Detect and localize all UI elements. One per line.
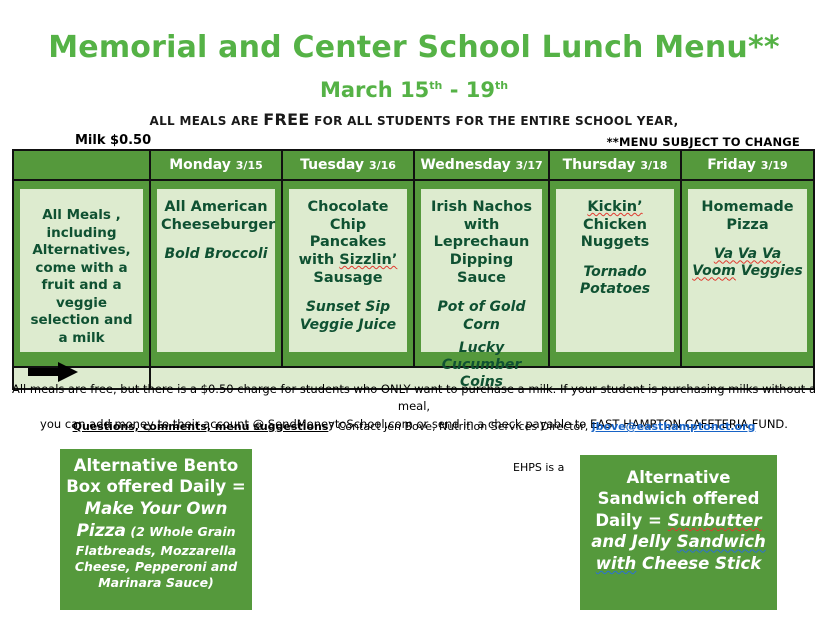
bento-line-6: Cheese, Pepperoni and (64, 559, 248, 575)
sandwich-line-1: Alternative (584, 467, 773, 488)
entree-thursday: Kickin’ Chicken Nuggets (560, 199, 670, 252)
bento-line-2: Box offered Daily = (64, 476, 248, 497)
day-date-friday: 3/19 (761, 159, 788, 172)
menu-cell-note: All Meals , including Alternatives, come… (13, 180, 150, 367)
right-arrow-icon (28, 362, 78, 382)
header-cell-wednesday: Wednesday 3/17 (414, 150, 549, 180)
side-thursday: Tornado Potatoes (560, 264, 670, 298)
date-range-subtitle: March 15th - 19th (0, 78, 828, 102)
ehps-partial-text: EHPS is a (513, 461, 564, 474)
menu-subject-to-change-note: **MENU SUBJECT TO CHANGE (607, 135, 800, 149)
alternative-sandwich-callout: Alternative Sandwich offered Daily = Sun… (580, 455, 777, 610)
free-meals-notice: ALL MEALS ARE FREE FOR ALL STUDENTS FOR … (0, 110, 828, 129)
side-wednesday-1: Pot of Gold Corn (425, 299, 538, 333)
header-cell-monday: Monday 3/15 (150, 150, 282, 180)
subtitle-prefix: March 15 (320, 78, 429, 102)
sandwich-with-word: with (596, 554, 637, 573)
weekly-menu-table: Monday 3/15 Tuesday 3/16 Wednesday 3/17 … (12, 149, 815, 390)
entree-tuesday-part2: Sausage (313, 270, 382, 286)
entree-thursday-misspelled: Kickin’ (587, 199, 642, 215)
sandwich-sandwich-word: Sandwich (677, 532, 766, 551)
header-cell-friday: Friday 3/19 (681, 150, 814, 180)
subtitle-sup-2: th (495, 79, 508, 92)
bento-pizza-word: Pizza (76, 521, 126, 541)
free-word: FREE (263, 110, 309, 129)
contact-paragraph: Questions, comments, menu suggestions? C… (0, 419, 828, 436)
header-cell-blank (13, 150, 150, 180)
menu-cell-wednesday-inner: Irish Nachos with Leprechaun Dipping Sau… (421, 189, 542, 352)
menu-cell-tuesday-inner: Chocolate Chip Pancakes with Sizzlin’ Sa… (289, 189, 407, 352)
header-cell-tuesday: Tuesday 3/16 (282, 150, 414, 180)
entree-tuesday: Chocolate Chip Pancakes with Sizzlin’ Sa… (293, 199, 403, 287)
entree-tuesday-misspelled: Sizzlin’ (339, 252, 397, 268)
day-name-friday: Friday (707, 157, 756, 173)
sandwich-line-2: Sandwich offered (584, 488, 773, 509)
sandwich-line-3-pre: Daily = (595, 511, 667, 530)
bento-line-5: Flatbreads, Mozzarella (64, 543, 248, 559)
all-meals-note-text: All Meals , including Alternatives, come… (20, 189, 143, 352)
side-friday-rest: Veggies (736, 263, 803, 279)
menu-cell-thursday: Kickin’ Chicken Nuggets Tornado Potatoes (549, 180, 681, 367)
day-date-wednesday: 3/17 (516, 159, 543, 172)
entree-thursday-rest: Chicken Nuggets (581, 217, 650, 251)
free-notice-pre: ALL MEALS ARE (150, 114, 264, 128)
bento-line-1: Alternative Bento (64, 455, 248, 476)
day-date-monday: 3/15 (236, 159, 263, 172)
subtitle-mid: - 19 (442, 78, 495, 102)
menu-cell-friday-inner: Homemade Pizza Va Va VaVoom Veggies (688, 189, 807, 352)
menu-cell-friday: Homemade Pizza Va Va VaVoom Veggies (681, 180, 814, 367)
menu-cell-tuesday: Chocolate Chip Pancakes with Sizzlin’ Sa… (282, 180, 414, 367)
sandwich-line-5: with Cheese Stick (584, 553, 773, 574)
side-monday: Bold Broccoli (161, 246, 271, 263)
bento-line-3: Make Your Own (64, 498, 248, 519)
menu-cell-thursday-inner: Kickin’ Chicken Nuggets Tornado Potatoes (556, 189, 674, 352)
side-tuesday: Sunset Sip Veggie Juice (293, 299, 403, 333)
questions-label: Questions, comments, menu suggestions (73, 420, 329, 433)
entree-wednesday: Irish Nachos with Leprechaun Dipping Sau… (425, 199, 538, 287)
day-date-thursday: 3/18 (640, 159, 667, 172)
free-notice-post: FOR ALL STUDENTS FOR THE ENTIRE SCHOOL Y… (310, 114, 679, 128)
milk-charge-line-1: All meals are free, but there is a $0.50… (12, 382, 816, 413)
sandwich-line-3: Daily = Sunbutter (584, 510, 773, 531)
entree-monday: All American Cheeseburger (161, 199, 271, 234)
table-content-row: All Meals , including Alternatives, come… (13, 180, 814, 367)
contact-text: ? Contact Jen Bove, Nutrition Services D… (328, 420, 591, 433)
bento-line-4-rest: (2 Whole Grain (126, 524, 236, 539)
bento-line-4: Pizza (2 Whole Grain (64, 521, 248, 543)
table-header-row: Monday 3/15 Tuesday 3/16 Wednesday 3/17 … (13, 150, 814, 180)
day-name-wednesday: Wednesday (420, 157, 510, 173)
side-friday-misspelled-2: Voom (692, 263, 736, 279)
menu-cell-wednesday: Irish Nachos with Leprechaun Dipping Sau… (414, 180, 549, 367)
entree-friday: Homemade Pizza (692, 199, 803, 234)
sandwich-line-4-pre: and Jelly (591, 532, 677, 551)
milk-price-label: Milk $0.50 (75, 133, 151, 148)
day-name-monday: Monday (169, 157, 231, 173)
contact-email-link[interactable]: jbove@easthamptonct.org (592, 420, 756, 433)
page-title: Memorial and Center School Lunch Menu** (0, 30, 828, 65)
sandwich-sunbutter-word: Sunbutter (668, 511, 762, 530)
sandwich-line-4: and Jelly Sandwich (584, 531, 773, 552)
header-cell-thursday: Thursday 3/18 (549, 150, 681, 180)
menu-cell-monday: All American Cheeseburger Bold Broccoli (150, 180, 282, 367)
menu-cell-monday-inner: All American Cheeseburger Bold Broccoli (157, 189, 275, 352)
day-name-thursday: Thursday (563, 157, 636, 173)
subtitle-sup-1: th (429, 79, 442, 92)
alternative-bento-box-callout: Alternative Bento Box offered Daily = Ma… (60, 449, 252, 610)
sandwich-line-5-rest: Cheese Stick (636, 554, 761, 573)
bento-line-7: Marinara Sauce) (64, 575, 248, 591)
day-date-tuesday: 3/16 (369, 159, 396, 172)
side-friday: Va Va VaVoom Veggies (692, 246, 803, 280)
day-name-tuesday: Tuesday (300, 157, 364, 173)
side-friday-misspelled-1: Va Va Va (714, 246, 781, 262)
